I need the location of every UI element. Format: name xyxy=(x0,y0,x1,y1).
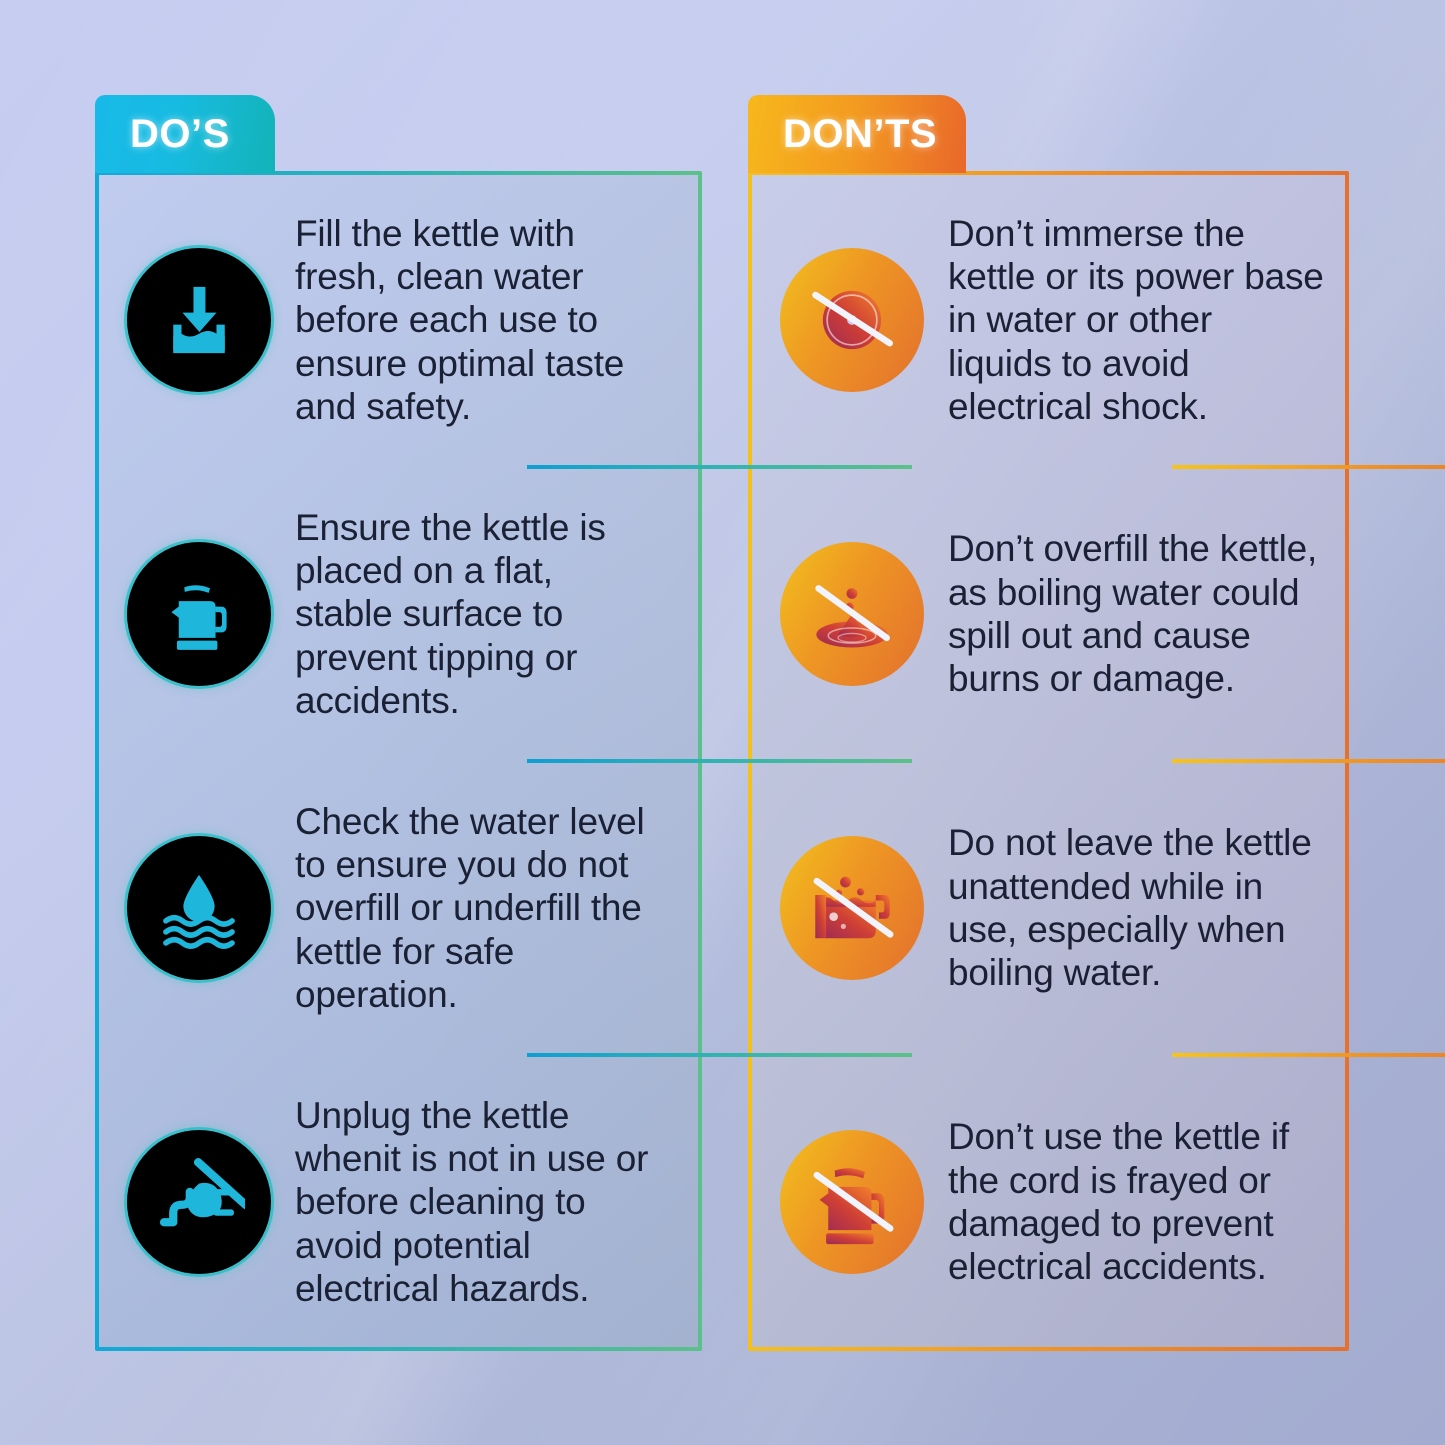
donts-tab[interactable]: DON’TS xyxy=(748,95,966,173)
donts-icon-3-wrap xyxy=(780,836,924,980)
list-item[interactable]: Fill the kettle with fresh, clean water … xyxy=(99,175,698,465)
dos-card-inner: Fill the kettle with fresh, clean water … xyxy=(99,175,698,1347)
dos-card: Fill the kettle with fresh, clean water … xyxy=(95,171,702,1351)
list-item[interactable]: Do not leave the kettle unattended while… xyxy=(752,763,1345,1053)
dos-tab-label: DO’S xyxy=(130,112,230,157)
list-item-text: Don’t immerse the kettle or its power ba… xyxy=(948,186,1325,454)
donts-tab-label: DON’TS xyxy=(783,112,937,157)
list-item-text: Fill the kettle with fresh, clean water … xyxy=(295,186,655,454)
dos-tab[interactable]: DO’S xyxy=(95,95,275,173)
list-item-text: Ensure the kettle is placed on a flat, s… xyxy=(295,480,655,748)
list-item[interactable]: Check the water level to ensure you do n… xyxy=(99,763,698,1053)
no-unattended-boiling-icon xyxy=(780,836,924,980)
no-frayed-cord-kettle-icon xyxy=(780,1130,924,1274)
dos-icon-1-wrap xyxy=(127,248,271,392)
list-item-text: Don’t use the kettle if the cord is fray… xyxy=(948,1089,1325,1314)
list-item[interactable]: Don’t overfill the kettle, as boiling wa… xyxy=(752,469,1345,759)
donts-item-list: Don’t immerse the kettle or its power ba… xyxy=(752,175,1345,1347)
list-item[interactable]: Unplug the kettle whenit is not in use o… xyxy=(99,1057,698,1347)
dos-icon-4-wrap xyxy=(127,1130,271,1274)
fill-water-icon xyxy=(127,248,271,392)
columns-container: DO’S xyxy=(0,0,1445,1445)
water-level-droplet-icon xyxy=(127,836,271,980)
list-item-text: Do not leave the kettle unattended while… xyxy=(948,795,1325,1020)
no-immerse-icon xyxy=(780,248,924,392)
donts-icon-4-wrap xyxy=(780,1130,924,1274)
no-overfill-splash-icon xyxy=(780,542,924,686)
list-item-text: Unplug the kettle whenit is not in use o… xyxy=(295,1068,655,1336)
list-item-text: Check the water level to ensure you do n… xyxy=(295,774,655,1042)
list-item[interactable]: Don’t use the kettle if the cord is fray… xyxy=(752,1057,1345,1347)
list-item-text: Don’t overfill the kettle, as boiling wa… xyxy=(948,501,1325,726)
list-item[interactable]: Ensure the kettle is placed on a flat, s… xyxy=(99,469,698,759)
kettle-on-base-icon xyxy=(127,542,271,686)
donts-card: Don’t immerse the kettle or its power ba… xyxy=(748,171,1349,1351)
dos-column: DO’S xyxy=(95,95,702,1351)
dos-icon-3-wrap xyxy=(127,836,271,980)
unplug-power-icon xyxy=(127,1130,271,1274)
dos-item-list: Fill the kettle with fresh, clean water … xyxy=(99,175,698,1347)
infographic-canvas: DO’S xyxy=(0,0,1445,1445)
donts-icon-1-wrap xyxy=(780,248,924,392)
list-item[interactable]: Don’t immerse the kettle or its power ba… xyxy=(752,175,1345,465)
donts-card-inner: Don’t immerse the kettle or its power ba… xyxy=(752,175,1345,1347)
donts-column: DON’TS xyxy=(748,95,1349,1351)
dos-icon-2-wrap xyxy=(127,542,271,686)
donts-icon-2-wrap xyxy=(780,542,924,686)
